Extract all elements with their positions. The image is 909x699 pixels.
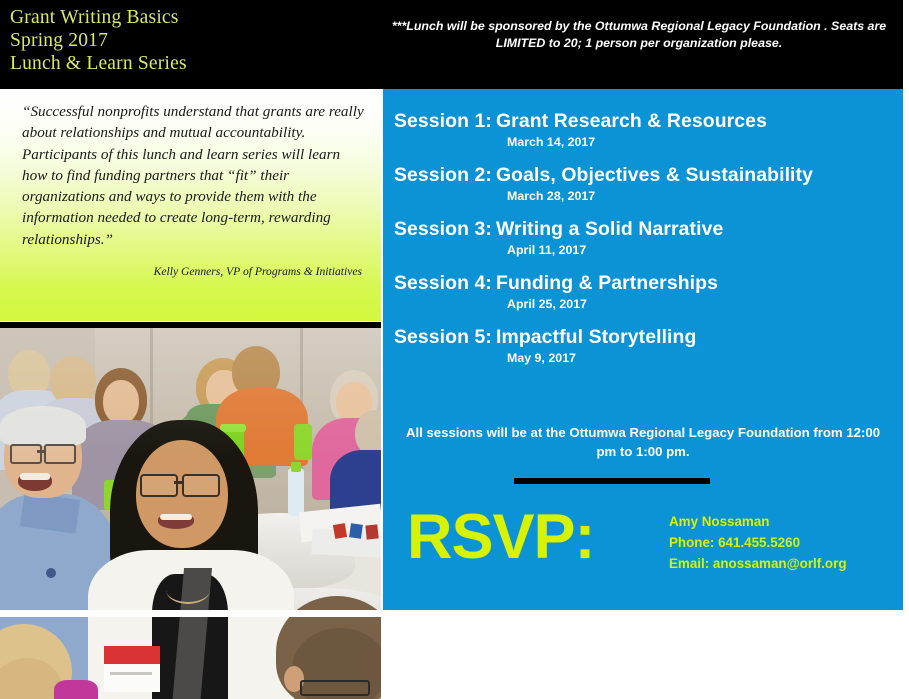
list-item: Session 5:Impactful Storytelling May 9, … [383, 325, 903, 367]
rsvp-contact-block: Amy Nossaman Phone: 641.455.5260 Email: … [669, 511, 847, 574]
session-title: Goals, Objectives & Sustainability [496, 164, 813, 186]
rsvp-heading: RSVP: [407, 501, 595, 573]
session-title: Impactful Storytelling [496, 326, 696, 348]
list-item: Session 2:Goals, Objectives & Sustainabi… [383, 163, 903, 205]
header-sponsor-note: ***Lunch will be sponsored by the Ottumw… [378, 18, 900, 51]
list-item: Session 4:Funding & Partnerships April 2… [383, 271, 903, 313]
session-date: March 28, 2017 [394, 187, 903, 205]
audience-photo [0, 328, 381, 699]
session-list: Session 1:Grant Research & Resources Mar… [383, 109, 903, 379]
rsvp-section: RSVP: Amy Nossaman Phone: 641.455.5260 E… [383, 501, 903, 591]
session-date: April 11, 2017 [394, 241, 903, 259]
session-label: Session 2: [394, 163, 496, 187]
bottom-margin [0, 610, 909, 617]
session-label: Session 4: [394, 271, 496, 295]
quote-panel: “Successful nonprofits understand that g… [0, 94, 381, 321]
session-title: Funding & Partnerships [496, 272, 718, 294]
header-bar: Grant Writing Basics Spring 2017 Lunch &… [0, 0, 909, 89]
sessions-panel: Session 1:Grant Research & Resources Mar… [383, 89, 903, 610]
session-date: March 14, 2017 [394, 133, 903, 151]
divider-rule [514, 478, 710, 484]
session-heading: Session 4:Funding & Partnerships [394, 271, 903, 295]
session-label: Session 1: [394, 109, 496, 133]
list-item: Session 1:Grant Research & Resources Mar… [383, 109, 903, 151]
session-heading: Session 3:Writing a Solid Narrative [394, 217, 903, 241]
rsvp-contact-phone[interactable]: Phone: 641.455.5260 [669, 532, 847, 553]
right-margin [903, 0, 909, 617]
rsvp-contact-email[interactable]: Email: anossaman@orlf.org [669, 553, 847, 574]
session-heading: Session 1:Grant Research & Resources [394, 109, 903, 133]
session-heading: Session 5:Impactful Storytelling [394, 325, 903, 349]
quote-attribution: Kelly Genners, VP of Programs & Initiati… [22, 265, 366, 278]
session-date: April 25, 2017 [394, 295, 903, 313]
session-title: Grant Research & Resources [496, 110, 767, 132]
session-heading: Session 2:Goals, Objectives & Sustainabi… [394, 163, 903, 187]
session-label: Session 5: [394, 325, 496, 349]
venue-info: All sessions will be at the Ottumwa Regi… [405, 423, 881, 461]
left-column: “Successful nonprofits understand that g… [0, 89, 383, 610]
session-date: May 9, 2017 [394, 349, 903, 367]
page-title: Grant Writing Basics Spring 2017 Lunch &… [10, 6, 187, 75]
session-title: Writing a Solid Narrative [496, 218, 723, 240]
quote-text: “Successful nonprofits understand that g… [22, 101, 364, 250]
session-label: Session 3: [394, 217, 496, 241]
rsvp-contact-name: Amy Nossaman [669, 511, 847, 532]
flyer-page: Grant Writing Basics Spring 2017 Lunch &… [0, 0, 909, 617]
list-item: Session 3:Writing a Solid Narrative Apri… [383, 217, 903, 259]
